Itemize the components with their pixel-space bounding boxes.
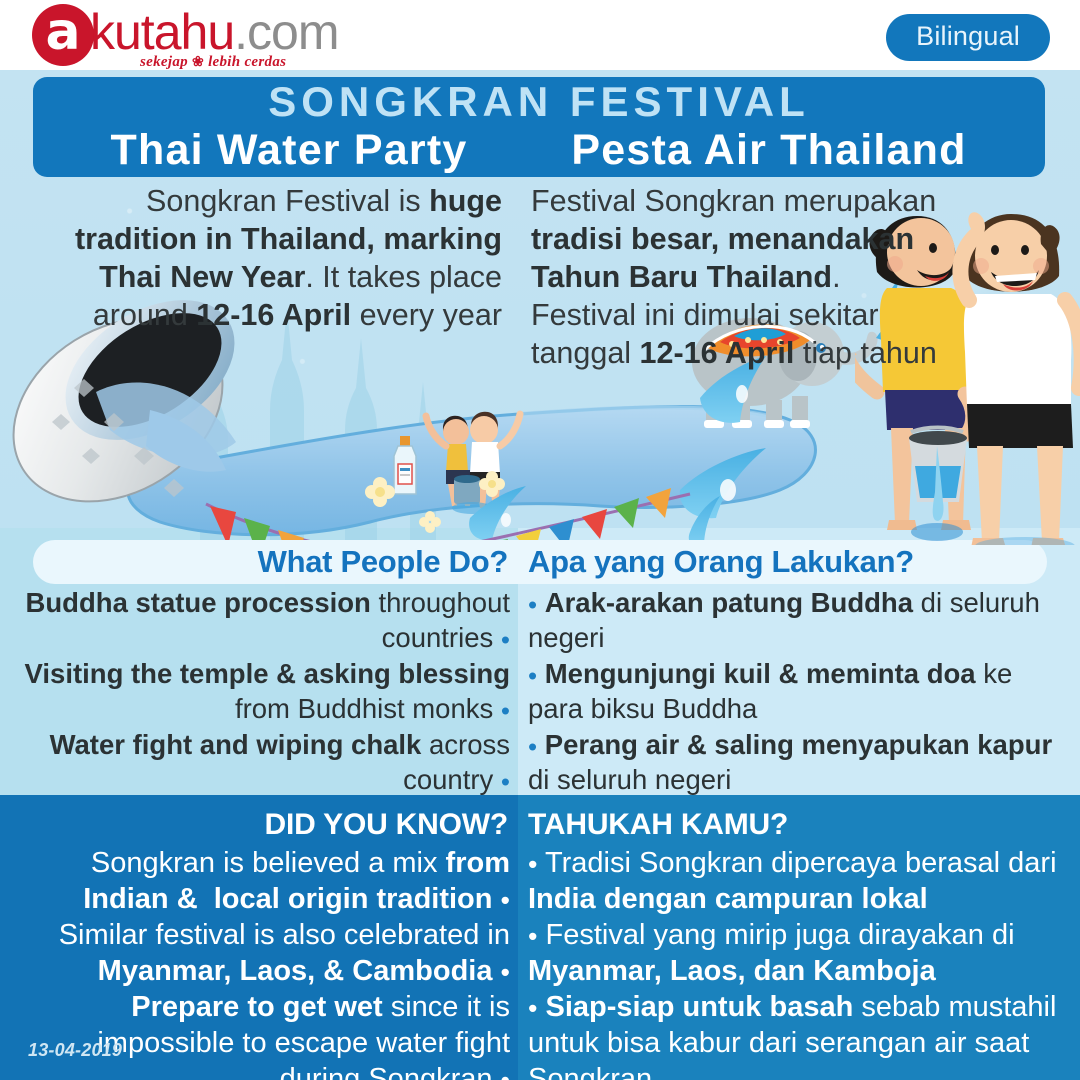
- middle-heading-english: What People Do?: [20, 542, 508, 582]
- boy-white-shirt: [960, 212, 1080, 545]
- logo-domain: .com: [234, 4, 338, 60]
- flower-icon: ❀: [192, 55, 204, 70]
- intro-paragraph-english: Songkran Festival is huge tradition in T…: [20, 182, 502, 334]
- logo-bar: a kutahu.com sekejap ❀ lebih cerdas Bili…: [0, 0, 1080, 70]
- middle-list-indonesian: • Arak-arakan patung Buddha di seluruh n…: [528, 586, 1073, 799]
- publish-date: 13-04-2019: [28, 1040, 122, 1061]
- bullet-dot: •: [528, 661, 537, 691]
- tagline-right: lebih cerdas: [208, 54, 286, 70]
- list-item: • Perang air & saling menyapukan kapur d…: [528, 728, 1073, 797]
- list-item: • Mengunjungi kuil & meminta doa ke para…: [528, 657, 1073, 726]
- bottom-heading-english: DID YOU KNOW?: [20, 806, 508, 844]
- logo-wordmark: kutahu.com sekejap ❀ lebih cerdas: [90, 4, 338, 60]
- bullet-dot: •: [501, 695, 510, 725]
- bottom-heading-indonesian: TAHUKAH KAMU?: [528, 806, 1068, 844]
- list-item: Prepare to get wet since it is impossibl…: [20, 989, 510, 1080]
- bullet-dot: •: [528, 921, 537, 951]
- subtitle-indonesian: Pesta Air Thailand: [519, 125, 1019, 175]
- page-title: SONGKRAN FESTIVAL: [268, 80, 810, 124]
- logo-circle-a: a: [32, 4, 94, 66]
- subtitle-english: Thai Water Party: [59, 125, 519, 175]
- bottom-list-indonesian: • Tradisi Songkran dipercaya berasal dar…: [528, 845, 1073, 1080]
- bullet-dot: •: [501, 885, 510, 915]
- bullet-dot: •: [501, 624, 510, 654]
- list-item: • Arak-arakan patung Buddha di seluruh n…: [528, 586, 1073, 655]
- bilingual-badge[interactable]: Bilingual: [886, 14, 1050, 61]
- list-item: Buddha statue procession throughout coun…: [20, 586, 510, 655]
- bullet-dot: •: [528, 590, 537, 620]
- bullet-dot: •: [501, 766, 510, 796]
- list-item: Visiting the temple & asking blessing fr…: [20, 657, 510, 726]
- bullet-dot: •: [528, 993, 537, 1023]
- bullet-dot: •: [501, 1065, 510, 1080]
- site-logo[interactable]: a kutahu.com sekejap ❀ lebih cerdas: [32, 4, 338, 66]
- title-card: SONGKRAN FESTIVAL Thai Water Party Pesta…: [33, 77, 1045, 177]
- middle-list-english: Buddha statue procession throughout coun…: [20, 586, 510, 799]
- intro-paragraph-indonesian: Festival Songkran merupakan tradisi besa…: [531, 182, 951, 372]
- list-item: • Tradisi Songkran dipercaya berasal dar…: [528, 845, 1073, 917]
- list-item: • Siap-siap untuk basah sebab mustahil u…: [528, 989, 1073, 1080]
- bullet-dot: •: [528, 849, 537, 879]
- infographic-page: a kutahu.com sekejap ❀ lebih cerdas Bili…: [0, 0, 1080, 1080]
- list-item: • Festival yang mirip juga dirayakan di …: [528, 917, 1073, 989]
- logo-name: kutahu: [90, 4, 234, 60]
- middle-heading-indonesian: Apa yang Orang Lakukan?: [528, 542, 1068, 582]
- logo-tagline: sekejap ❀ lebih cerdas: [140, 54, 286, 71]
- bullet-dot: •: [501, 957, 510, 987]
- list-item: Similar festival is also celebrated in M…: [20, 917, 510, 989]
- tagline-left: sekejap: [140, 54, 188, 70]
- list-item: Water fight and wiping chalk across coun…: [20, 728, 510, 797]
- subtitle-row: Thai Water Party Pesta Air Thailand: [59, 125, 1019, 175]
- bullet-dot: •: [528, 732, 537, 762]
- list-item: Songkran is believed a mix from Indian &…: [20, 845, 510, 917]
